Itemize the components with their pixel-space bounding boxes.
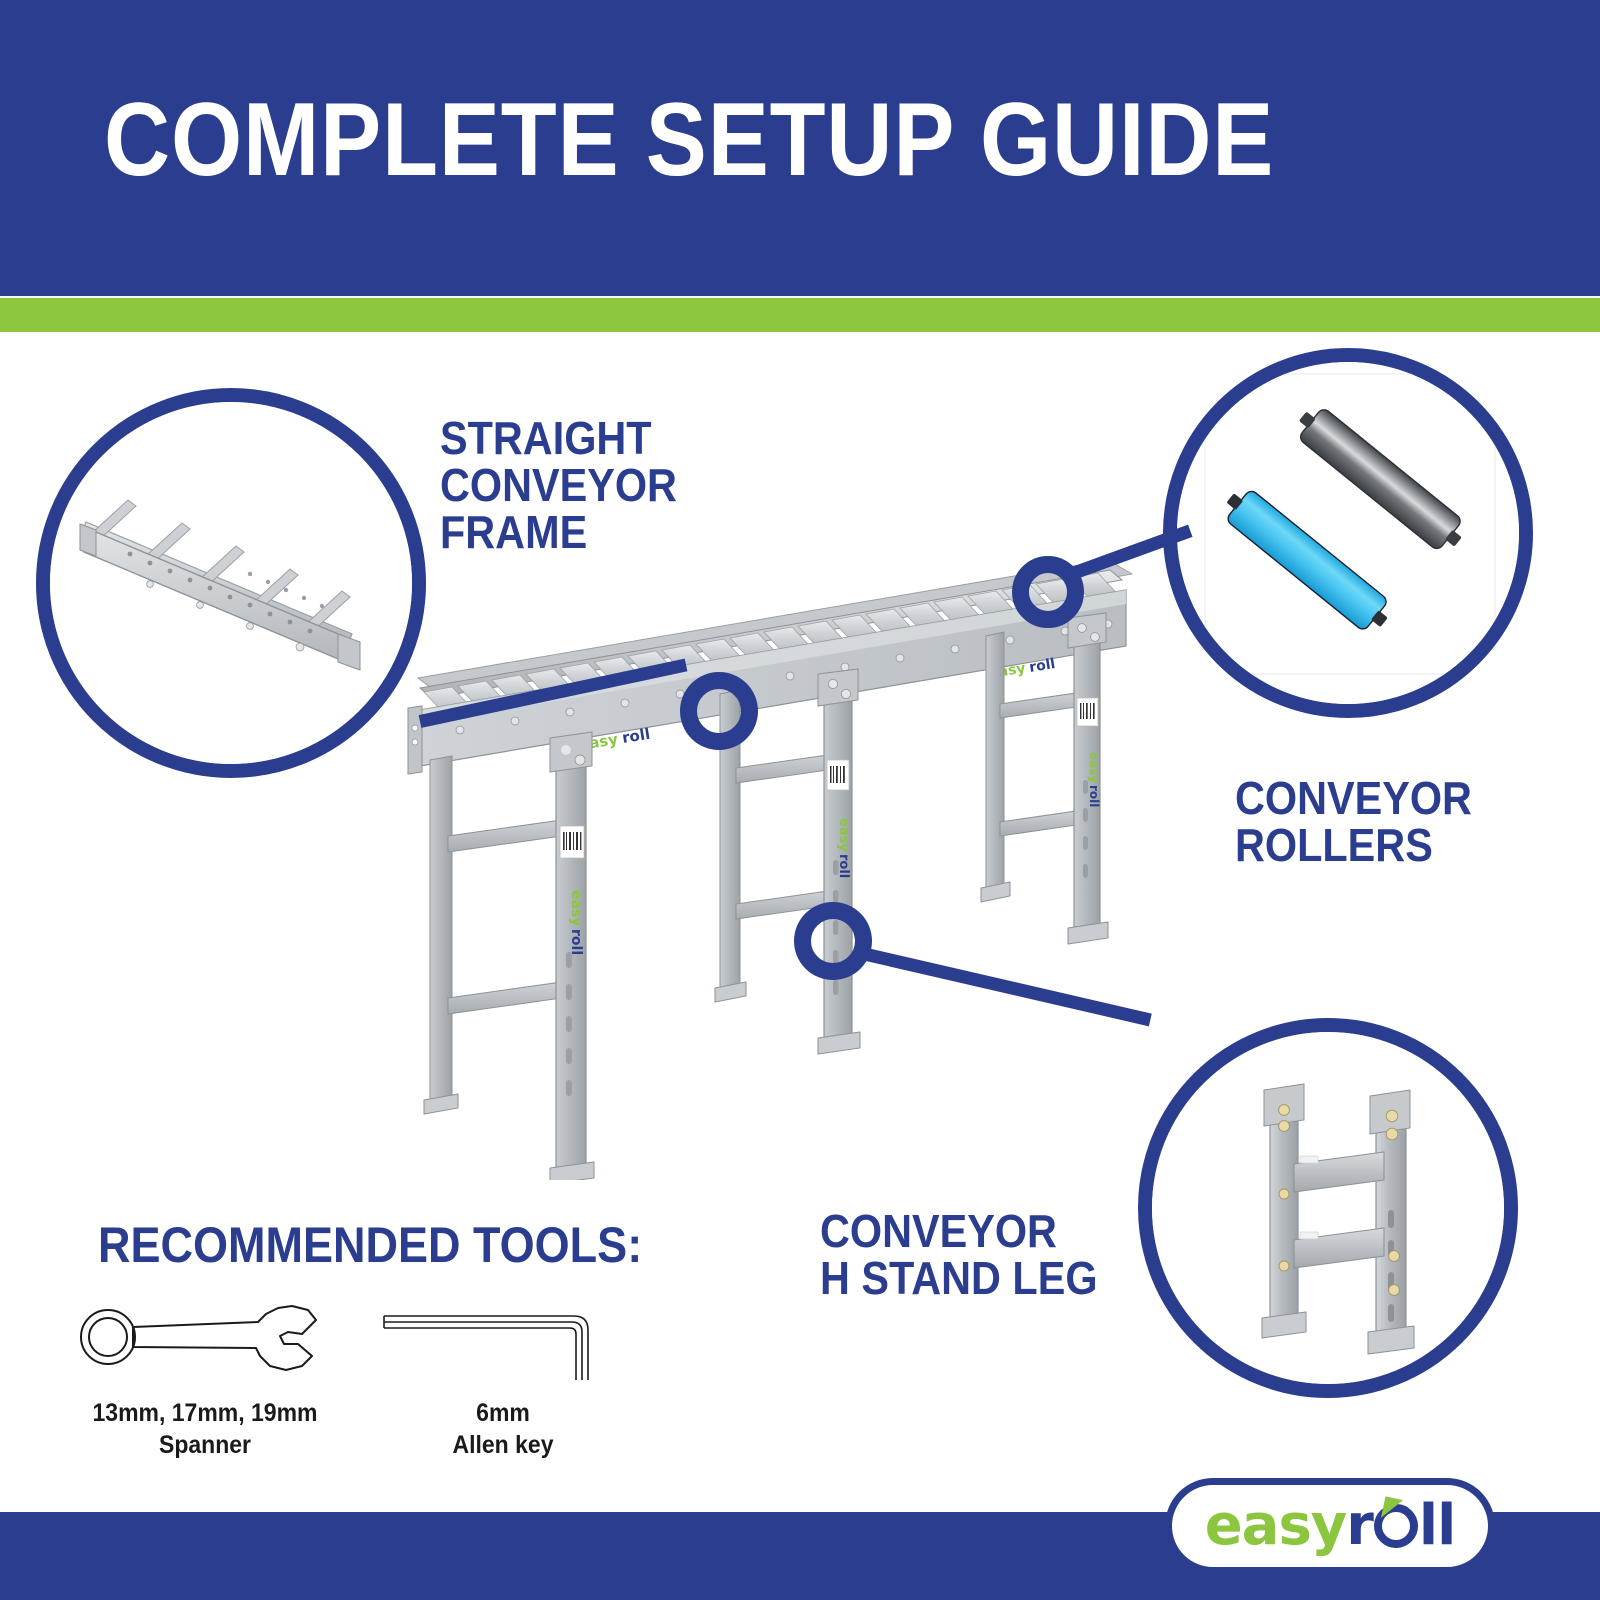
callout-label-rollers: CONVEYOR ROLLERS — [1235, 775, 1472, 869]
marker-stand — [794, 902, 872, 980]
logo-text-ll: ll — [1419, 1498, 1455, 1554]
svg-text:easy: easy — [836, 818, 851, 852]
logo-o-icon — [1374, 1504, 1418, 1548]
h-stand-leg-image — [1152, 1032, 1504, 1384]
svg-text:easy: easy — [568, 890, 584, 926]
accent-stripe — [0, 298, 1600, 332]
svg-text:roll: roll — [836, 854, 851, 878]
callout-circle-frame — [36, 388, 426, 778]
svg-text:roll: roll — [1028, 656, 1056, 676]
svg-text:easy: easy — [1087, 752, 1101, 783]
conveyor-frame-image — [50, 402, 412, 764]
tool-spanner: 13mm, 17mm, 19mm Spanner — [60, 1290, 350, 1461]
conveyor-illustration: easy roll easy roll — [390, 560, 1180, 1180]
logo-text-r: r — [1346, 1498, 1373, 1554]
infographic-canvas: COMPLETE SETUP GUIDE — [0, 0, 1600, 1600]
conveyor-rollers-image — [1177, 362, 1519, 704]
svg-text:roll: roll — [568, 929, 584, 955]
marker-rollers — [1012, 556, 1084, 628]
callout-circle-rollers — [1163, 348, 1533, 718]
allen-key-icon — [378, 1290, 628, 1382]
callout-circle-stand — [1138, 1018, 1518, 1398]
easyroll-logo: easy r ll — [1165, 1478, 1495, 1574]
marker-frame — [680, 672, 758, 750]
logo-arrow-icon — [1381, 1496, 1403, 1521]
spanner-icon — [70, 1290, 340, 1382]
tool-allen-caption: 6mm Allen key — [379, 1397, 627, 1461]
callout-label-stand: CONVEYOR H STAND LEG — [820, 1208, 1098, 1302]
tools-heading: RECOMMENDED TOOLS: — [98, 1216, 642, 1274]
logo-text-easy: easy — [1205, 1498, 1347, 1554]
tool-allen-key: 6mm Allen key — [368, 1290, 638, 1461]
page-title: COMPLETE SETUP GUIDE — [104, 88, 1274, 192]
tool-spanner-caption: 13mm, 17mm, 19mm Spanner — [72, 1397, 339, 1461]
callout-label-frame: STRAIGHT CONVEYOR FRAME — [440, 415, 677, 556]
svg-text:roll: roll — [621, 725, 651, 747]
svg-text:roll: roll — [1087, 785, 1101, 807]
